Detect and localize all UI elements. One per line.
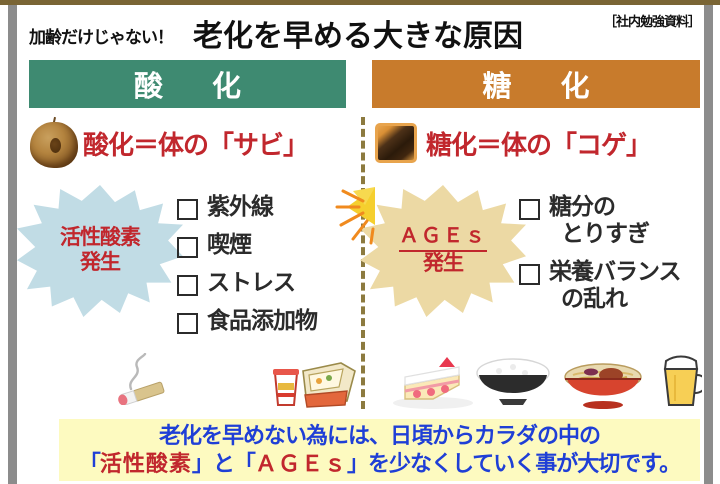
concept-row-glycation: 糖化＝体の「コゲ」 (372, 113, 702, 173)
summary-line-1: 老化を早めない為には、日頃からカラダの中の (159, 422, 600, 450)
burst-glycation-line1: ＡＧＥｓ (399, 225, 487, 252)
summary-banner: 老化を早めない為には、日頃からカラダの中の 「活性酸素」と「ＡＧＥｓ」を少なくし… (59, 419, 700, 481)
list-item-label: 糖分の とりすぎ (549, 193, 649, 247)
checklist-glycation: 糖分の とりすぎ 栄養バランス の乱れ (519, 193, 681, 324)
list-item-label-line2: とりすぎ (549, 220, 649, 247)
document-tag: ［社内勉強資料］ (604, 11, 700, 30)
list-item-label: 食品添加物 (207, 307, 317, 334)
checkbox-icon[interactable] (177, 275, 198, 296)
burst-oxidation: 活性酸素 発生 (17, 185, 183, 317)
shortcake-icon (393, 357, 473, 409)
column-divider (361, 117, 365, 409)
left-scrollbar[interactable] (8, 5, 17, 484)
summary-line-2-c: 」と「 (192, 451, 255, 476)
right-gutter (713, 5, 720, 484)
list-item-label: ストレス (207, 269, 295, 296)
list-item-label-line1: 糖分の (549, 193, 615, 219)
summary-keyword-ages: ＡＧＥｓ (255, 451, 347, 476)
list-item-label: 栄養バランス の乱れ (549, 258, 681, 312)
noodle-bowl-icon (565, 364, 641, 409)
burnt-toast-photo (372, 117, 422, 169)
checkbox-icon[interactable] (519, 264, 540, 285)
sun-icon (313, 185, 375, 247)
section-header-glycation-label: 糖 化 (472, 63, 599, 105)
title-row: 加齢だけじゃない！ 老化を早める大きな原因 ［社内勉強資料］ (17, 9, 704, 53)
title-subtitle: 加齢だけじゃない！ (29, 23, 173, 48)
rotten-apple-photo (29, 117, 79, 169)
section-header-oxidation: 酸 化 (29, 60, 346, 108)
rice-bowl-icon (477, 359, 549, 405)
list-item[interactable]: 食品添加物 (177, 307, 317, 334)
section-header-oxidation-label: 酸 化 (124, 63, 251, 105)
list-item[interactable]: 栄養バランス の乱れ (519, 258, 681, 312)
concept-text-glycation: 糖化＝体の「コゲ」 (426, 125, 651, 162)
list-item-label: 喫煙 (207, 231, 251, 258)
summary-line-2: 「活性酸素」と「ＡＧＥｓ」を少なくしていく事が大切です。 (79, 450, 680, 478)
burst-oxidation-line2: 発生 (80, 251, 120, 276)
sugar-food-icons (387, 355, 702, 411)
concept-row-oxidation: 酸化＝体の「サビ」 (29, 113, 359, 173)
summary-keyword-ros: 活性酸素 (100, 451, 192, 476)
checkbox-icon[interactable] (519, 199, 540, 220)
toast-body-icon (375, 123, 417, 163)
list-item-label-line1: 栄養バランス (549, 258, 681, 284)
cup-noodle-icon (273, 369, 299, 405)
beer-mug-icon (665, 357, 702, 406)
apple-body-icon (30, 122, 78, 168)
page-title: 老化を早める大きな原因 (193, 11, 523, 55)
concept-text-oxidation: 酸化＝体の「サビ」 (83, 125, 308, 162)
list-item[interactable]: 紫外線 (177, 193, 317, 220)
right-scrollbar[interactable] (704, 5, 713, 484)
list-item-label: 紫外線 (207, 193, 273, 220)
summary-line-2-e: 」を少なくしていく事が大切です。 (347, 451, 680, 476)
list-item[interactable]: 喫煙 (177, 231, 317, 258)
left-gutter (0, 5, 8, 484)
checklist-oxidation: 紫外線 喫煙 ストレス 食品添加物 (177, 193, 317, 346)
checkbox-icon[interactable] (177, 313, 198, 334)
burst-glycation-line2: 発生 (423, 252, 463, 277)
list-item[interactable]: ストレス (177, 269, 317, 296)
processed-food-icons (267, 357, 359, 409)
burst-glycation: ＡＧＥｓ 発生 (360, 185, 526, 317)
list-item[interactable]: 糖分の とりすぎ (519, 193, 681, 247)
section-header-glycation: 糖 化 (372, 60, 700, 108)
cigarette-icon (113, 353, 197, 405)
checkbox-icon[interactable] (177, 199, 198, 220)
bento-icon (303, 363, 355, 407)
slide-canvas: 加齢だけじゃない！ 老化を早める大きな原因 ［社内勉強資料］ 酸 化 糖 化 酸… (17, 5, 704, 484)
checkbox-icon[interactable] (177, 237, 198, 258)
list-item-label-line2: の乱れ (549, 285, 681, 312)
slide-page: 加齢だけじゃない！ 老化を早める大きな原因 ［社内勉強資料］ 酸 化 糖 化 酸… (0, 0, 720, 484)
summary-line-2-a: 「 (79, 451, 100, 476)
burst-oxidation-line1: 活性酸素 (60, 226, 140, 251)
